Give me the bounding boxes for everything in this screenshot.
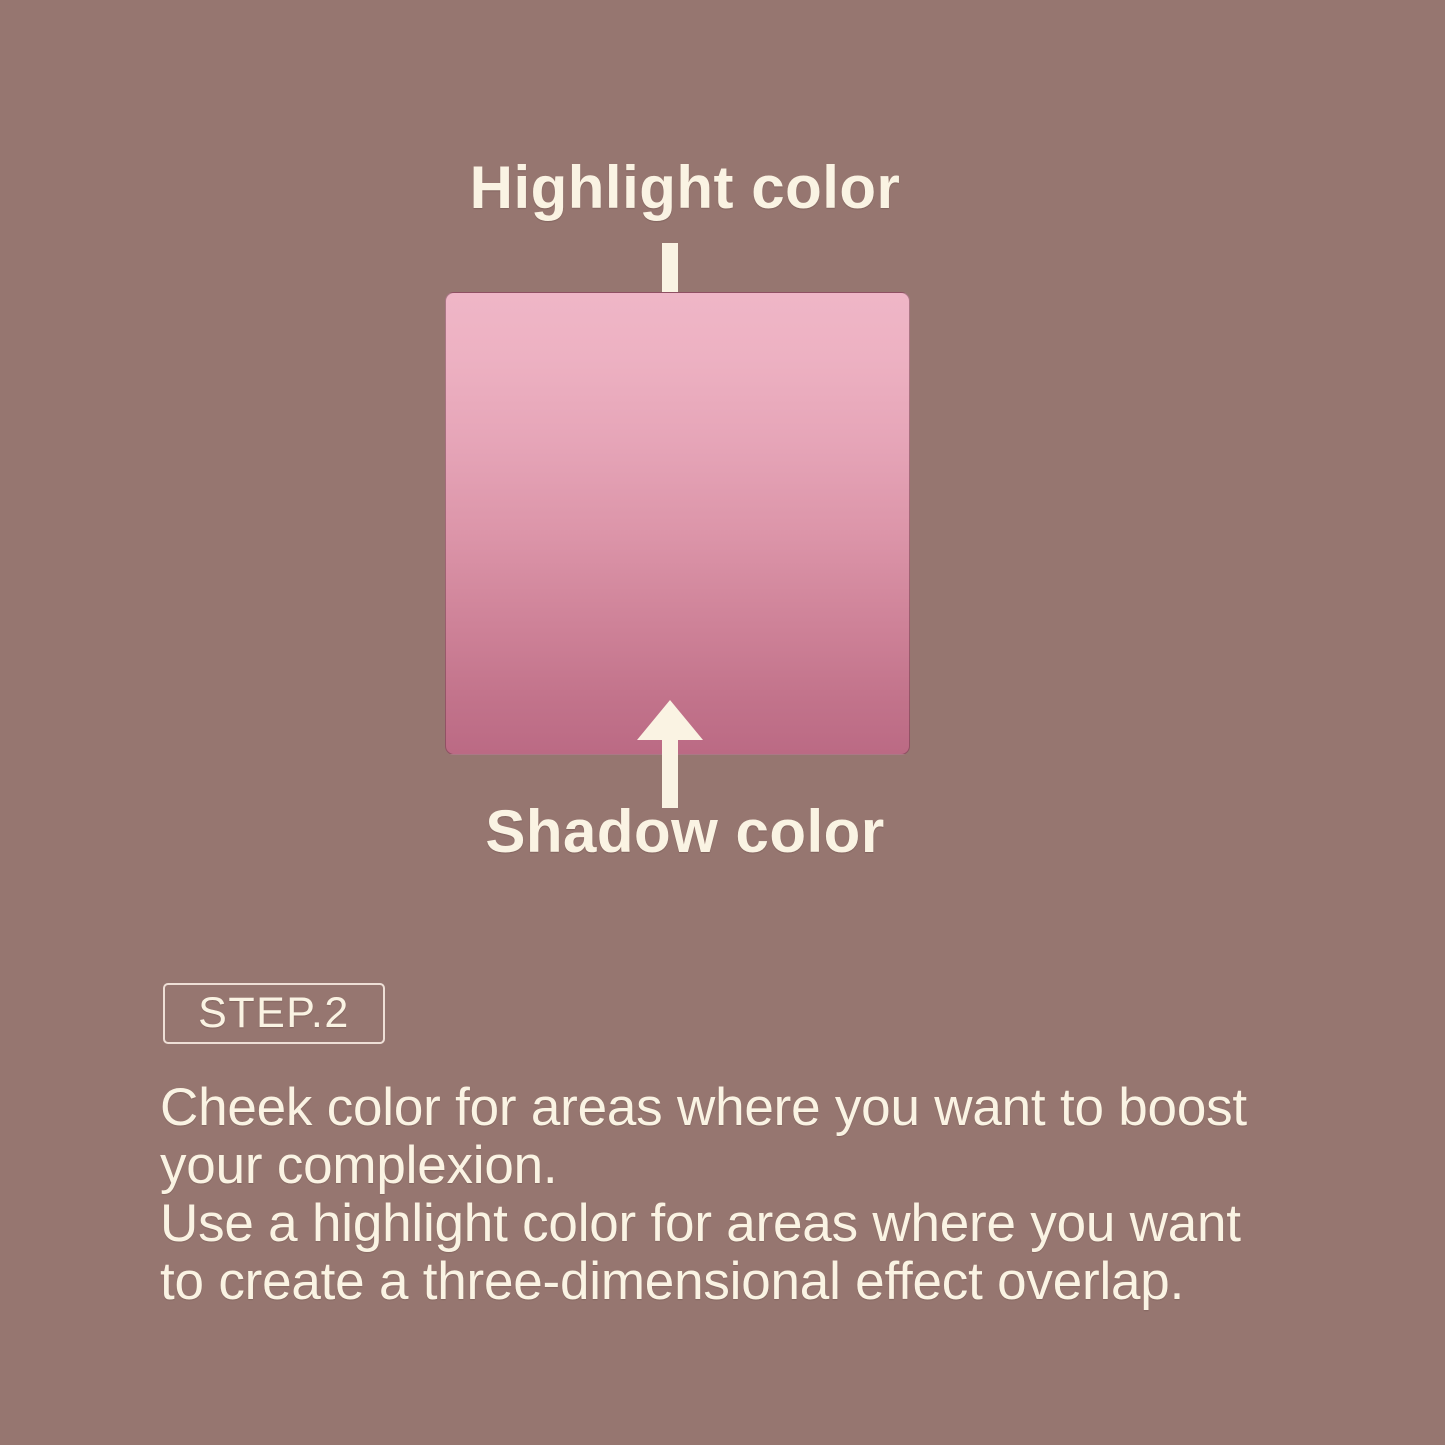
shadow-color-label: Shadow color bbox=[0, 800, 1370, 863]
highlight-color-label: Highlight color bbox=[0, 156, 1370, 219]
cheek-color-gradient-swatch bbox=[445, 292, 910, 755]
instruction-line: to create a three-dimensional effect ove… bbox=[160, 1253, 1320, 1311]
instruction-line: your complexion. bbox=[160, 1137, 1320, 1195]
instruction-line: Use a highlight color for areas where yo… bbox=[160, 1195, 1320, 1253]
instruction-line: Cheek color for areas where you want to … bbox=[160, 1079, 1320, 1137]
poster-canvas: Highlight color Shadow color STEP.2 Chee… bbox=[0, 0, 1445, 1445]
step-badge: STEP.2 bbox=[163, 983, 385, 1044]
instruction-paragraph: Cheek color for areas where you want to … bbox=[160, 1079, 1320, 1311]
step-badge-label: STEP.2 bbox=[198, 992, 350, 1035]
